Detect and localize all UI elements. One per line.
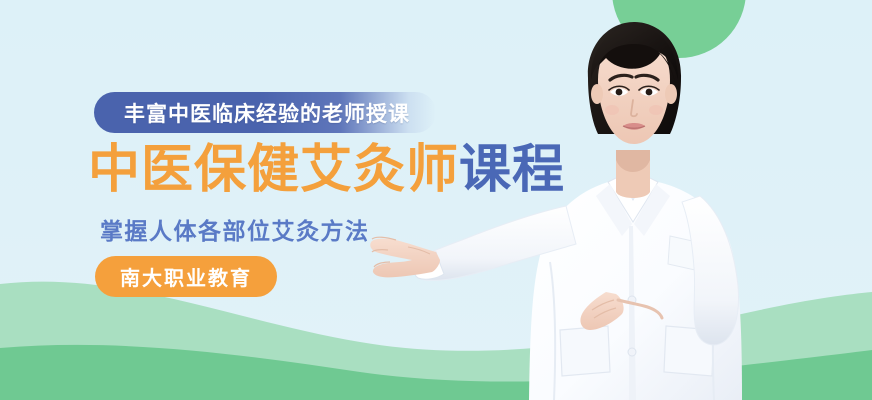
course-promo-banner: 丰富中医临床经验的老师授课 中医保健艾灸师课程 掌握人体各部位艾灸方法 南大职业… <box>0 0 872 400</box>
neck <box>616 150 650 198</box>
tagline-badge-text: 丰富中医临床经验的老师授课 <box>124 98 410 128</box>
tagline-badge: 丰富中医临床经验的老师授课 <box>94 92 436 133</box>
head <box>588 22 681 144</box>
brand-cta-button[interactable]: 南大职业教育 <box>95 256 277 297</box>
page-subtitle: 掌握人体各部位艾灸方法 <box>100 212 370 246</box>
page-title: 中医保健艾灸师课程 <box>88 144 565 196</box>
banner-copy: 丰富中医临床经验的老师授课 中医保健艾灸师课程 掌握人体各部位艾灸方法 南大职业… <box>0 0 560 400</box>
headline-tail-text: 课程 <box>459 141 565 199</box>
headline-accent-text: 中医保健艾灸师 <box>88 141 459 199</box>
